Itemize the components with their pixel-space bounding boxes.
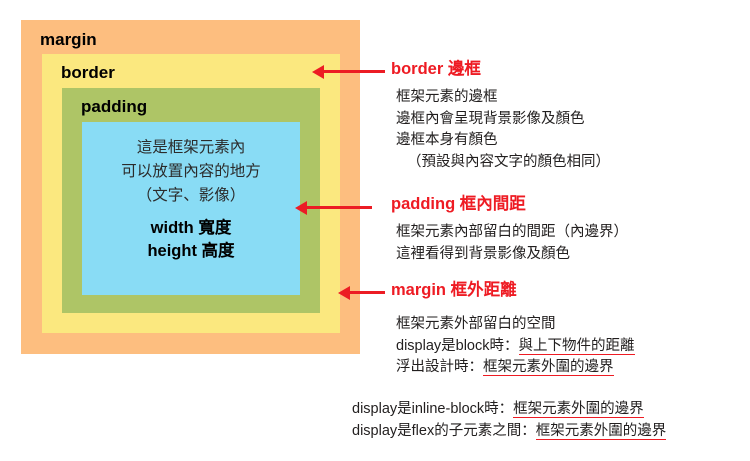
- border-note-line-4: （預設與內容文字的顏色相同）: [396, 152, 610, 174]
- content-line-1: 這是框架元素內: [137, 139, 246, 156]
- border-note-title: border 邊框: [391, 60, 610, 80]
- content-line-2: 可以放置內容的地方: [121, 163, 261, 180]
- border-note: border 邊框 框架元素的邊框 邊框內會呈現背景影像及顏色 邊框本身有顏色 …: [391, 60, 610, 174]
- border-note-line-2: 邊框內會呈現背景影像及顏色: [396, 109, 610, 131]
- content-width-label: width 寬度: [82, 217, 300, 240]
- extra-note-line-1: display是inline-block時：框架元素外圍的邊界: [352, 398, 666, 420]
- content-line-3: （文字、影像）: [137, 187, 246, 204]
- padding-note-line-1: 框架元素內部留白的間距（內邊界）: [396, 222, 628, 244]
- padding-note-line-2: 這裡看得到背景影像及顏色: [396, 244, 628, 266]
- margin-arrow-icon: [349, 291, 385, 294]
- box-model-diagram: margin border padding 這是框架元素內 可以放置內容的地方 …: [0, 0, 750, 461]
- border-note-body: 框架元素的邊框 邊框內會呈現背景影像及顏色 邊框本身有顏色 （預設與內容文字的顏…: [391, 87, 610, 174]
- border-box-label: border: [61, 64, 115, 81]
- margin-note-line-2-prefix: display是block時：: [396, 338, 519, 354]
- border-arrow-icon: [323, 70, 385, 73]
- padding-note-title: padding 框內間距: [391, 195, 628, 215]
- margin-note-line-3-prefix: 浮出設計時：: [396, 359, 483, 375]
- content-box-text: 這是框架元素內 可以放置內容的地方 （文字、影像） width 寬度 heigh…: [82, 136, 300, 264]
- padding-note: padding 框內間距 框架元素內部留白的間距（內邊界） 這裡看得到背景影像及…: [391, 195, 628, 265]
- margin-note-line-3-emphasis: 框架元素外圍的邊界: [483, 359, 614, 376]
- extra-note-line-2-emphasis: 框架元素外圍的邊界: [536, 423, 667, 440]
- border-note-line-3: 邊框本身有顏色: [396, 130, 610, 152]
- margin-note-body: 框架元素外部留白的空間 display是block時：與上下物件的距離 浮出設計…: [391, 314, 635, 379]
- extra-note-line-2: display是flex的子元素之間：框架元素外圍的邊界: [352, 420, 666, 442]
- extra-note: display是inline-block時：框架元素外圍的邊界 display是…: [352, 398, 666, 442]
- padding-box: padding 這是框架元素內 可以放置內容的地方 （文字、影像） width …: [62, 88, 320, 313]
- margin-box: margin border padding 這是框架元素內 可以放置內容的地方 …: [21, 20, 360, 354]
- margin-note-line-3: 浮出設計時：框架元素外圍的邊界: [396, 357, 635, 379]
- border-note-line-1: 框架元素的邊框: [396, 87, 610, 109]
- padding-note-body: 框架元素內部留白的間距（內邊界） 這裡看得到背景影像及顏色: [391, 222, 628, 266]
- content-height-label: height 高度: [82, 240, 300, 263]
- margin-box-label: margin: [40, 31, 97, 48]
- padding-box-label: padding: [81, 98, 147, 115]
- extra-note-line-1-emphasis: 框架元素外圍的邊界: [513, 401, 644, 418]
- content-box: 這是框架元素內 可以放置內容的地方 （文字、影像） width 寬度 heigh…: [82, 122, 300, 295]
- margin-note-title: margin 框外距離: [391, 281, 635, 301]
- extra-note-line-2-prefix: display是flex的子元素之間：: [352, 423, 536, 439]
- border-box: border padding 這是框架元素內 可以放置內容的地方 （文字、影像）…: [42, 54, 340, 333]
- extra-note-line-1-prefix: display是inline-block時：: [352, 401, 513, 417]
- margin-note: margin 框外距離 框架元素外部留白的空間 display是block時：與…: [391, 281, 635, 379]
- margin-note-line-2: display是block時：與上下物件的距離: [396, 336, 635, 358]
- margin-note-line-1: 框架元素外部留白的空間: [396, 314, 635, 336]
- margin-note-line-2-emphasis: 與上下物件的距離: [519, 338, 635, 355]
- padding-arrow-icon: [306, 206, 372, 209]
